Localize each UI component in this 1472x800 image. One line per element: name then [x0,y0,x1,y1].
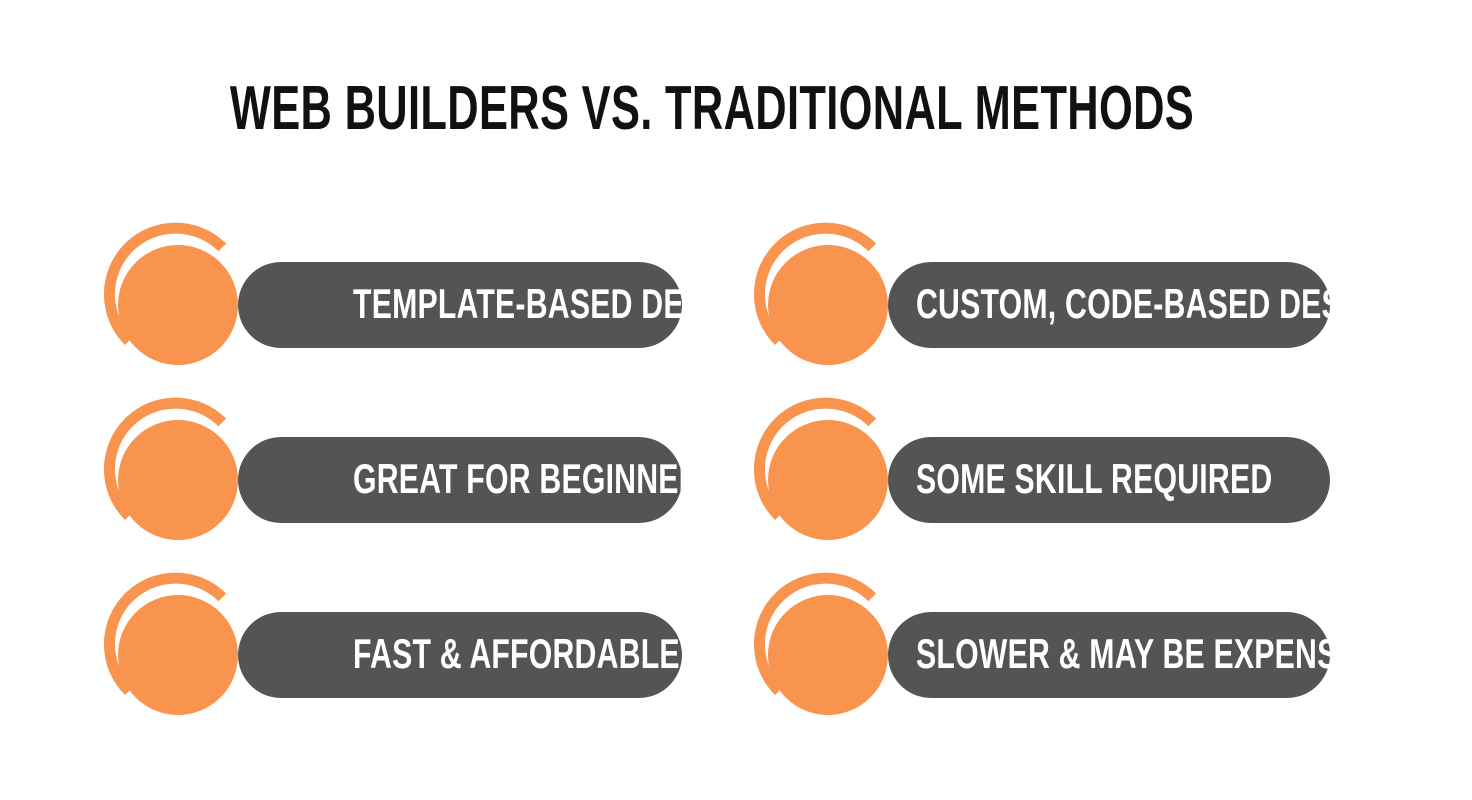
item-bar: CUSTOM, CODE-BASED DESIGN [888,262,1330,348]
orange-circle-icon [118,595,238,715]
item-label-wrap: CUSTOM, CODE-BASED DESIGN [888,262,1330,348]
item-bar: SLOWER & MAY BE EXPENSIVE [888,612,1330,698]
infographic-canvas: WEB BUILDERS VS. TRADITIONAL METHODS TEM… [0,0,1472,800]
orange-circle-icon [118,245,238,365]
item-label: FAST & AFFORDABLE [353,632,680,676]
item-label: SLOWER & MAY BE EXPENSIVE [916,632,1387,676]
orange-circle-icon [768,420,888,540]
orange-circle-icon [768,245,888,365]
item-bar: SOME SKILL REQUIRED [888,437,1330,523]
orange-circle-icon [768,595,888,715]
item-bar: TEMPLATE-BASED DESIGN [238,262,682,348]
item-label-wrap: SOME SKILL REQUIRED [888,437,1330,523]
item-label: GREAT FOR BEGINNERS [353,457,721,501]
item-label-wrap: GREAT FOR BEGINNERS [238,437,682,523]
item-bar: GREAT FOR BEGINNERS [238,437,682,523]
item-label: SOME SKILL REQUIRED [916,457,1272,501]
item-label-wrap: SLOWER & MAY BE EXPENSIVE [888,612,1330,698]
item-label: TEMPLATE-BASED DESIGN [353,282,759,326]
item-label-wrap: FAST & AFFORDABLE [238,612,682,698]
item-label-wrap: TEMPLATE-BASED DESIGN [238,262,682,348]
orange-circle-icon [118,420,238,540]
comparison-grid: TEMPLATE-BASED DESIGN GREAT FOR BEGINNER… [0,0,1472,800]
item-label: CUSTOM, CODE-BASED DESIGN [916,282,1396,326]
item-bar: FAST & AFFORDABLE [238,612,682,698]
